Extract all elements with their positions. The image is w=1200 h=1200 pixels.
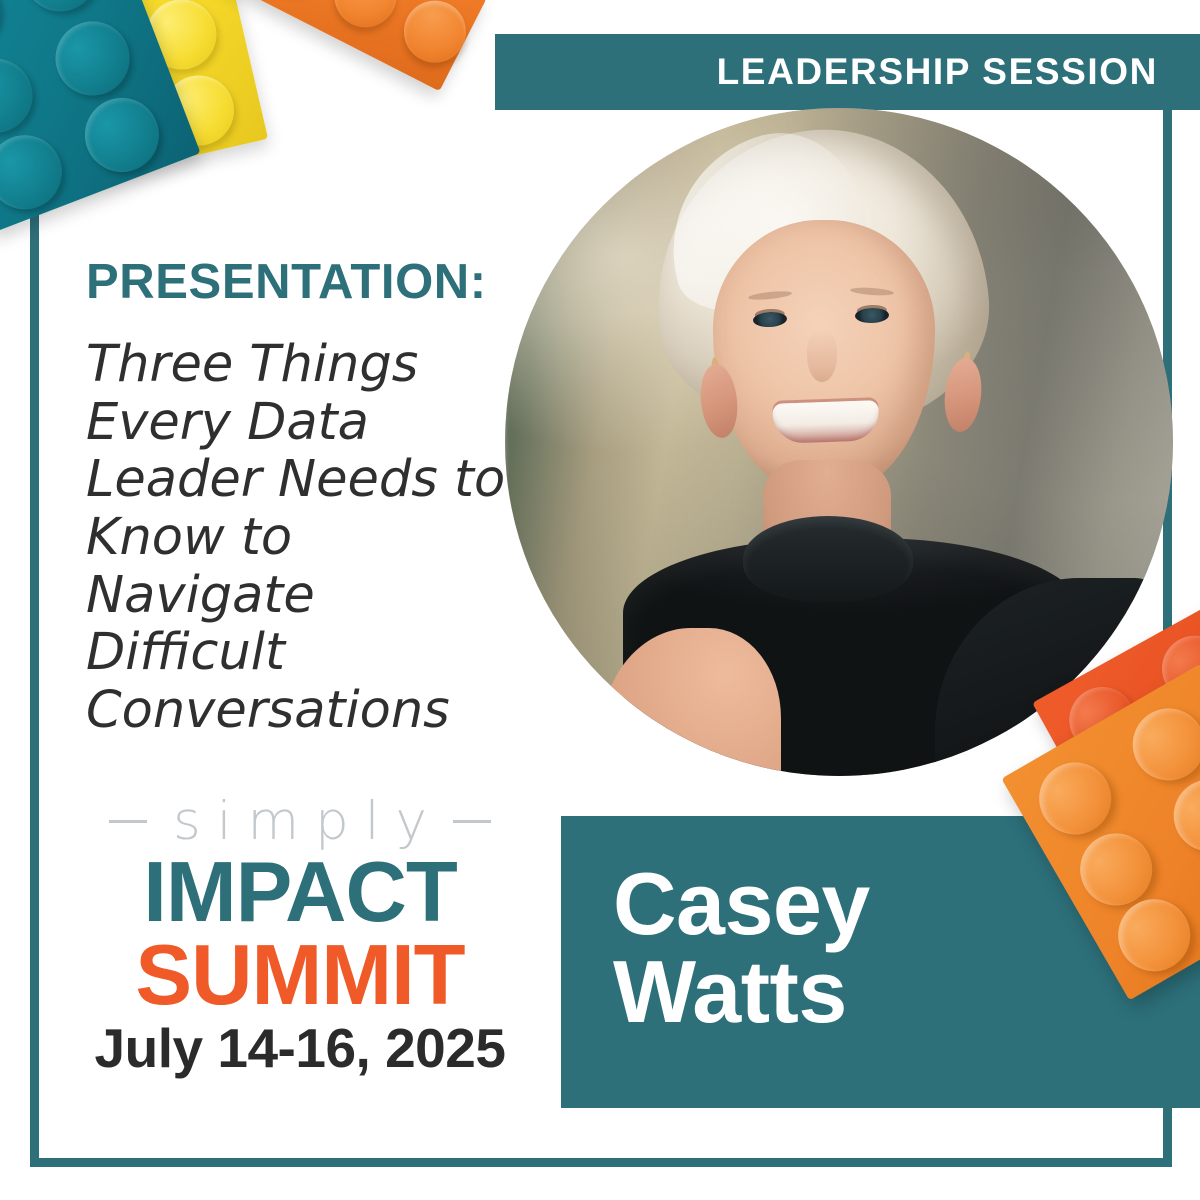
logo-summit-text: SUMMIT — [84, 934, 516, 1017]
logo-simply-text: simply — [157, 795, 443, 848]
logo-rule-left — [109, 820, 147, 823]
session-type-label: LEADERSHIP SESSION — [717, 51, 1158, 93]
speaker-collar — [743, 516, 913, 602]
event-dates: July 14-16, 2025 — [84, 1019, 516, 1077]
frame-border-left — [30, 160, 39, 1167]
logo-impact-text: IMPACT — [84, 852, 516, 934]
speaker-nose — [807, 330, 837, 382]
summit-logo: simply IMPACT SUMMIT July 14-16, 2025 — [84, 790, 516, 1077]
presentation-label: PRESENTATION: — [86, 254, 487, 310]
logo-rule-right — [453, 820, 491, 823]
event-promo-poster: LEADERSHIP SESSION PRESENTATION: Three T… — [0, 0, 1200, 1200]
session-type-banner: LEADERSHIP SESSION — [495, 34, 1200, 110]
presentation-title: Three Things Every Data Leader Needs to … — [86, 336, 516, 739]
speaker-photo — [505, 108, 1173, 776]
frame-border-bottom — [30, 1158, 1172, 1167]
logo-simply-row: simply — [84, 790, 516, 852]
